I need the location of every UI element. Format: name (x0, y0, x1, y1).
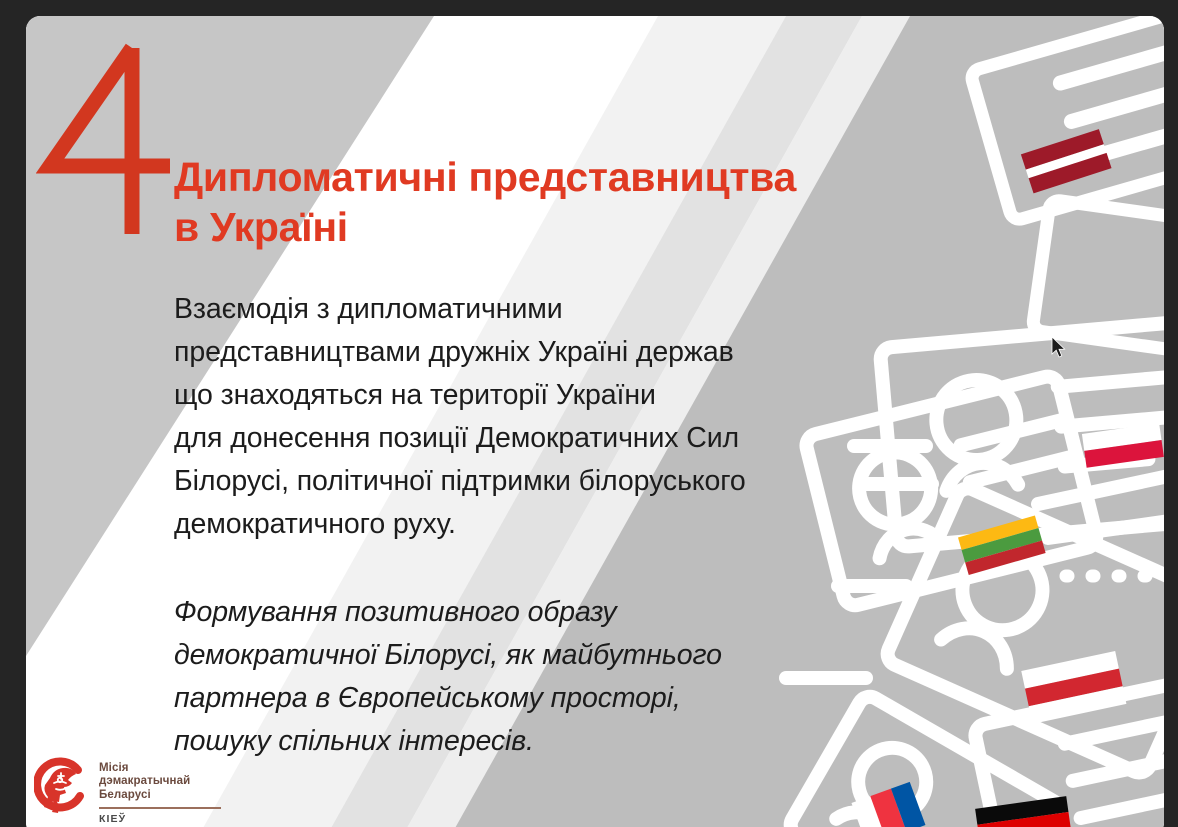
title-line-2: в Україні (174, 203, 964, 252)
slide-body: Взаємодія з дипломатичними представництв… (174, 288, 904, 763)
body-line: Формування позитивного образу (174, 591, 904, 634)
logo-name-line-3: Беларусі (99, 789, 221, 803)
pahonia-knight-icon (34, 756, 90, 816)
logo-name-line-2: дэмакратычнай (99, 775, 221, 789)
page-title: Дипломатичні представництва в Україні (174, 153, 964, 251)
body-line: для донесення позиції Демократичних Сил (174, 417, 904, 460)
body-line: партнера в Європейському просторі, (174, 677, 904, 720)
logo-name-line-1: Місія (99, 762, 221, 776)
presentation-slide: 4 Дипломатичні представництва в Україні … (26, 16, 1164, 827)
body-line: пошуку спільних інтересів. (174, 720, 904, 763)
body-line: Взаємодія з дипломатичними (174, 288, 904, 331)
paragraph-italic: Формування позитивного образу демократич… (174, 591, 904, 763)
body-line: демократичного руху. (174, 503, 904, 546)
body-line: представництвами дружніх Україні держав (174, 331, 904, 374)
organization-logo: Місія дэмакратычнай Беларусі КІЕЎ (34, 756, 221, 825)
paragraph-regular: Взаємодія з дипломатичними представництв… (174, 288, 904, 546)
screenshot-viewport: 4 Дипломатичні представництва в Україні … (0, 0, 1178, 827)
body-line: демократичної Білорусі, як майбутнього (174, 634, 904, 677)
logo-divider (99, 807, 221, 809)
title-line-1: Дипломатичні представництва (174, 153, 964, 202)
logo-city: КІЕЎ (99, 813, 221, 825)
logo-wordmark: Місія дэмакратычнай Беларусі КІЕЎ (99, 756, 221, 825)
body-line: що знаходяться на території України (174, 374, 904, 417)
body-line: Білорусі, політичної підтримки білоруськ… (174, 460, 904, 503)
